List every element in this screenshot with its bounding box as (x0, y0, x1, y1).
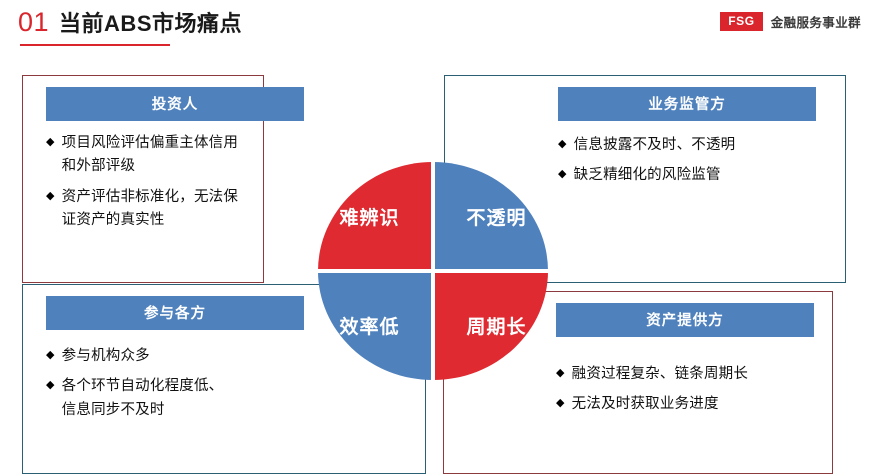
circle-quadrant-low-efficiency: 效率低 (318, 271, 433, 380)
panel-regulator: 业务监管方 ◆ 信息披露不及时、不透明 ◆ 缺乏精细化的风险监管 (558, 87, 848, 195)
list-item: ◆ 信息披露不及时、不透明 (558, 134, 848, 157)
list-item: ◆ 各个环节自动化程度低、 信息同步不及时 (46, 375, 310, 422)
list-item-text: 项目风险评估偏重主体信用 和外部评级 (62, 132, 310, 179)
diamond-bullet-icon: ◆ (46, 375, 55, 396)
list-item-text: 信息披露不及时、不透明 (574, 134, 848, 157)
panel-regulator-bullet-list: ◆ 信息披露不及时、不透明 ◆ 缺乏精细化的风险监管 (558, 134, 848, 188)
circle-quadrant-long-cycle: 周期长 (433, 271, 548, 380)
panel-investor: 投资人 ◆ 项目风险评估偏重主体信用 和外部评级 ◆ 资产评估非标准化，无法保 … (46, 87, 310, 240)
panel-investor-bullet-list: ◆ 项目风险评估偏重主体信用 和外部评级 ◆ 资产评估非标准化，无法保 证资产的… (46, 132, 310, 233)
list-item-text: 无法及时获取业务进度 (572, 393, 846, 416)
list-item: ◆ 缺乏精细化的风险监管 (558, 164, 848, 187)
list-item: ◆ 项目风险评估偏重主体信用 和外部评级 (46, 132, 310, 179)
circle-quadrant-label: 难辨识 (339, 203, 399, 230)
panel-participants: 参与各方 ◆ 参与机构众多 ◆ 各个环节自动化程度低、 信息同步不及时 (46, 296, 310, 429)
page-title: 01 当前ABS市场痛点 (18, 6, 242, 38)
panel-asset-provider: 资产提供方 ◆ 融资过程复杂、链条周期长 ◆ 无法及时获取业务进度 (556, 303, 846, 424)
title-underline-rule (20, 44, 170, 46)
logo-business-unit-label: 金融服务事业群 (771, 12, 861, 31)
logo-badge-fsg: FSG (720, 12, 762, 31)
list-item-text: 各个环节自动化程度低、 信息同步不及时 (62, 375, 310, 422)
panel-asset-provider-title: 资产提供方 (556, 303, 814, 337)
list-item-text: 缺乏精细化的风险监管 (574, 164, 848, 187)
circle-quadrant-not-transparent: 不透明 (433, 162, 548, 271)
diamond-bullet-icon: ◆ (46, 345, 55, 366)
panel-participants-bullet-list: ◆ 参与机构众多 ◆ 各个环节自动化程度低、 信息同步不及时 (46, 345, 310, 422)
circle-quadrant-hard-to-identify: 难辨识 (318, 162, 433, 271)
panel-regulator-title: 业务监管方 (558, 87, 816, 121)
diamond-bullet-icon: ◆ (556, 363, 565, 384)
panel-asset-provider-bullet-list: ◆ 融资过程复杂、链条周期长 ◆ 无法及时获取业务进度 (556, 363, 846, 417)
brand-logo: FSG 金融服务事业群 (720, 12, 861, 31)
diamond-bullet-icon: ◆ (556, 393, 565, 414)
circle-quadrant-label: 周期长 (466, 312, 526, 339)
page-title-number: 01 (18, 7, 49, 38)
list-item-text: 融资过程复杂、链条周期长 (572, 363, 846, 386)
panel-investor-title: 投资人 (46, 87, 304, 121)
circle-quadrant-label: 不透明 (466, 203, 526, 230)
slide-canvas: 01 当前ABS市场痛点 FSG 金融服务事业群 投资人 ◆ 项目风险评估偏重主… (0, 0, 873, 476)
list-item-text: 参与机构众多 (62, 345, 310, 368)
center-circle-diagram: 难辨识 不透明 效率低 周期长 (318, 162, 548, 380)
diamond-bullet-icon: ◆ (558, 134, 567, 155)
circle-horizontal-divider (318, 269, 548, 273)
diamond-bullet-icon: ◆ (46, 132, 55, 153)
list-item-text: 资产评估非标准化，无法保 证资产的真实性 (62, 186, 310, 233)
diamond-bullet-icon: ◆ (46, 186, 55, 207)
circle-quadrant-label: 效率低 (339, 312, 399, 339)
panel-participants-title: 参与各方 (46, 296, 304, 330)
diamond-bullet-icon: ◆ (558, 164, 567, 185)
list-item: ◆ 资产评估非标准化，无法保 证资产的真实性 (46, 186, 310, 233)
list-item: ◆ 无法及时获取业务进度 (556, 393, 846, 416)
list-item: ◆ 参与机构众多 (46, 345, 310, 368)
list-item: ◆ 融资过程复杂、链条周期长 (556, 363, 846, 386)
page-title-text: 当前ABS市场痛点 (59, 6, 242, 38)
